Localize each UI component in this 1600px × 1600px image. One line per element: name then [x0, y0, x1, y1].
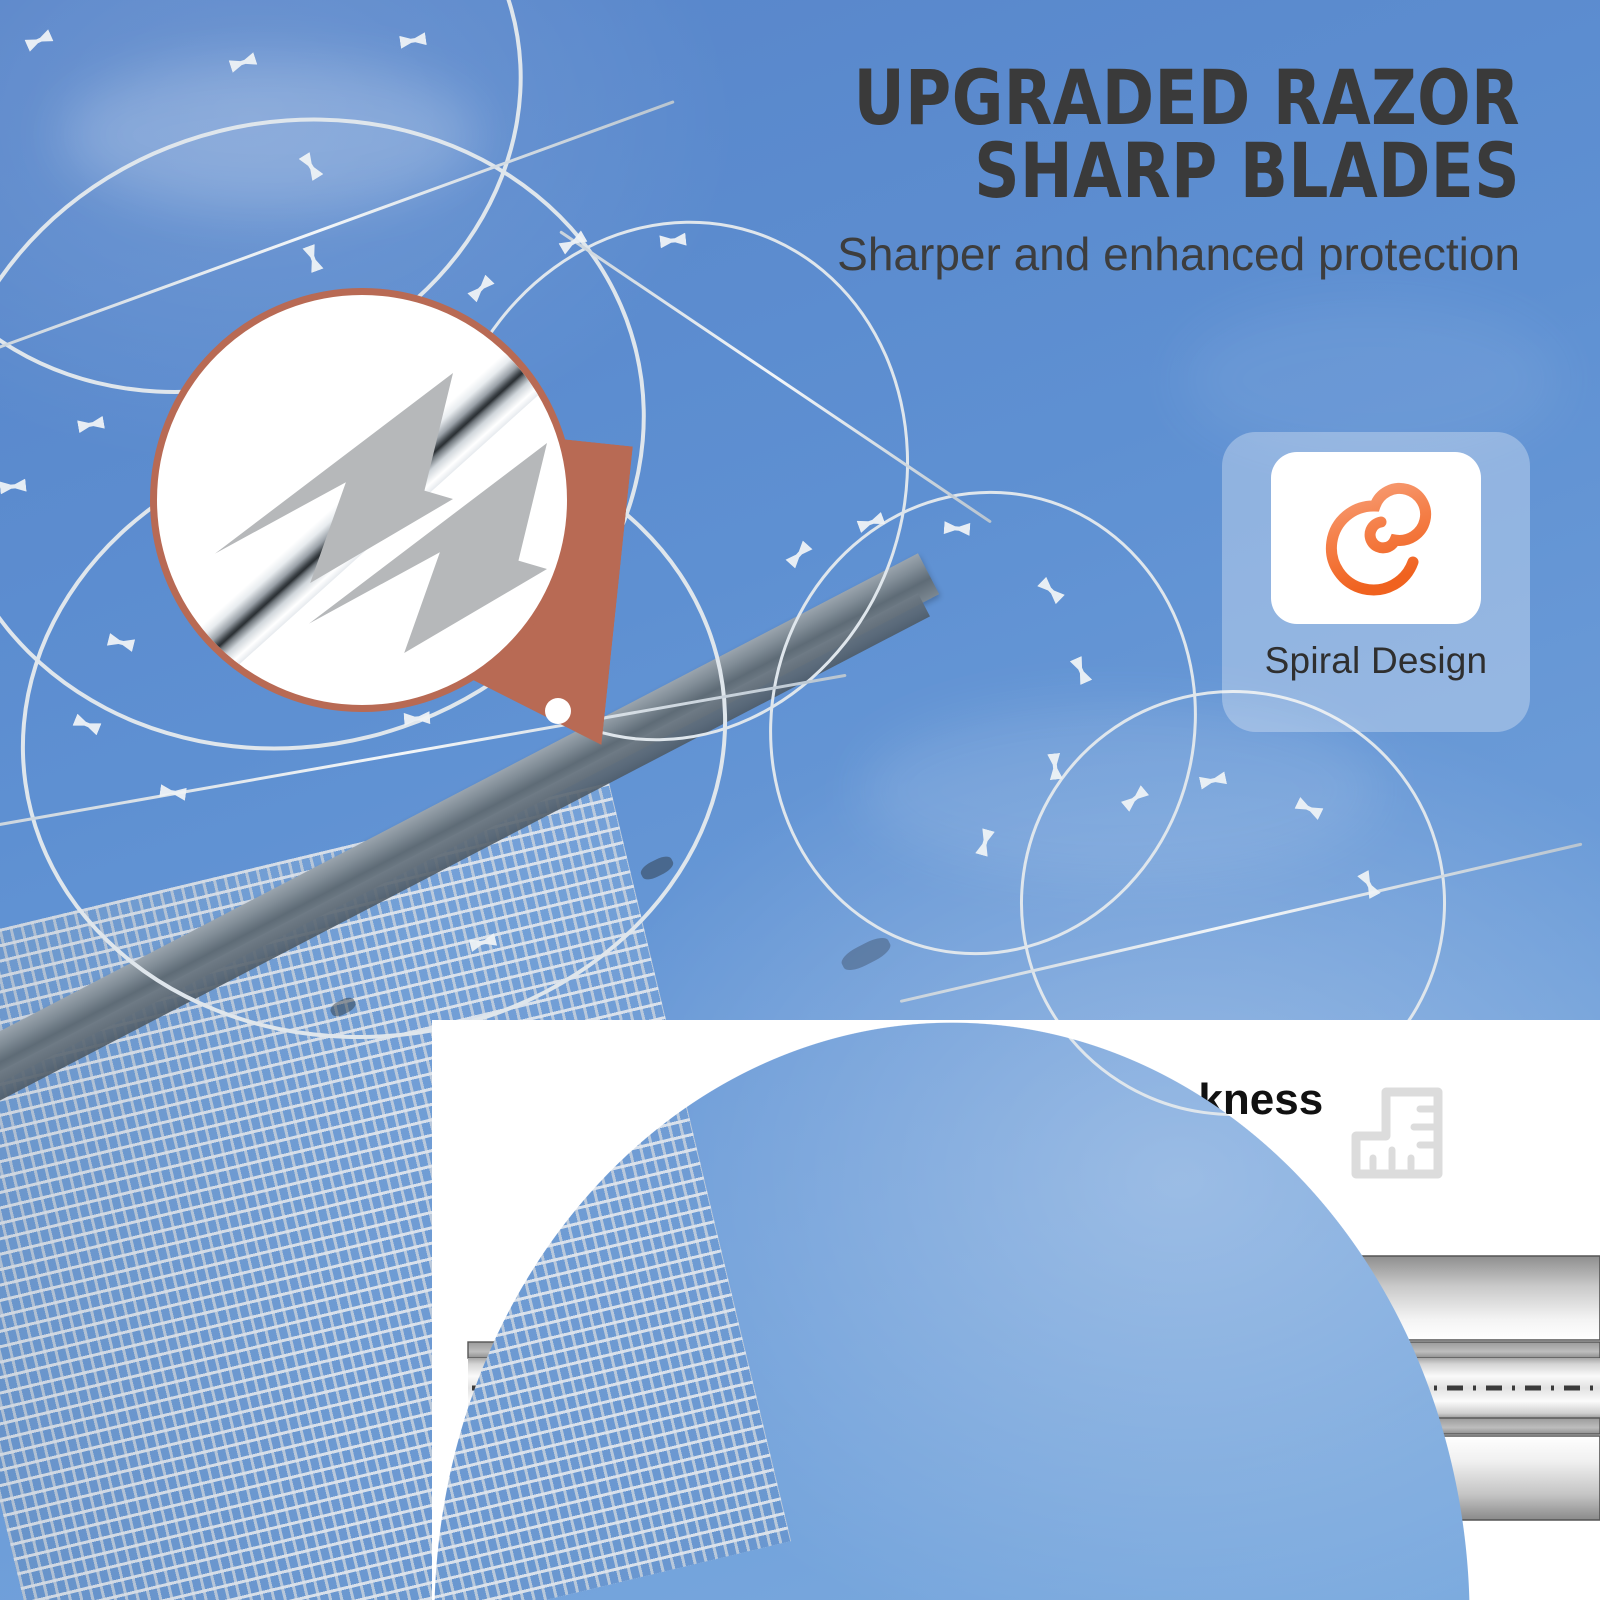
spiral-icon: [1301, 468, 1451, 608]
badge-label: Spiral Design: [1265, 640, 1488, 682]
dim-label-0-6in-vertical: 0.6in: [1144, 1288, 1231, 1333]
callout-anchor-dot: [545, 698, 571, 724]
headline-block: UPGRADED RAZOR SHARP BLADES Sharper and …: [760, 62, 1520, 279]
headline-subtitle: Sharper and enhanced protection: [760, 230, 1520, 279]
dim-line-0-98in: [648, 1210, 1176, 1246]
dim-label-0-98in: 0.98in: [848, 1170, 957, 1215]
product-infographic: UPGRADED RAZOR SHARP BLADES Sharper and …: [0, 0, 1600, 1600]
wire-core: [468, 1342, 1600, 1434]
blade-lower-right: [1074, 1436, 1600, 1520]
dim-label-0-16in: 0.16in: [520, 1341, 565, 1450]
badge-icon-plate: [1271, 452, 1481, 624]
blade-dimension-diagram: [432, 1020, 1600, 1600]
headline-line-2: SHARP BLADES: [974, 126, 1520, 215]
page-title: UPGRADED RAZOR SHARP BLADES: [821, 62, 1520, 208]
spec-panel: 0.02 Thickness in: [432, 1020, 1600, 1600]
dim-label-0-6in-horizontal: 0.6in: [1132, 1544, 1219, 1589]
magnifier-circle: [150, 288, 574, 712]
feature-badge-spiral-design: Spiral Design: [1222, 432, 1530, 732]
blade-lower-left: [646, 1436, 1046, 1520]
blade-upper-left: [646, 1256, 1046, 1340]
